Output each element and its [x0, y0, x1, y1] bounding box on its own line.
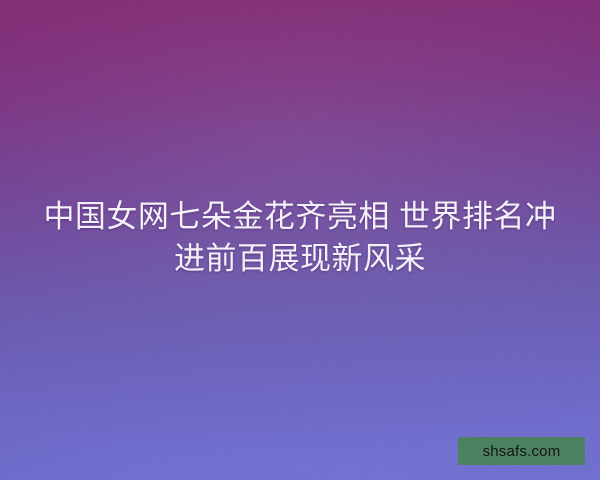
watermark-badge: shsafs.com [458, 437, 585, 465]
watermark-label: shsafs.com [483, 444, 561, 459]
headline-text: 中国女网七朵金花齐亮相 世界排名冲进前百展现新风采 [0, 196, 600, 280]
image-canvas: 中国女网七朵金花齐亮相 世界排名冲进前百展现新风采 shsafs.com [0, 0, 600, 480]
